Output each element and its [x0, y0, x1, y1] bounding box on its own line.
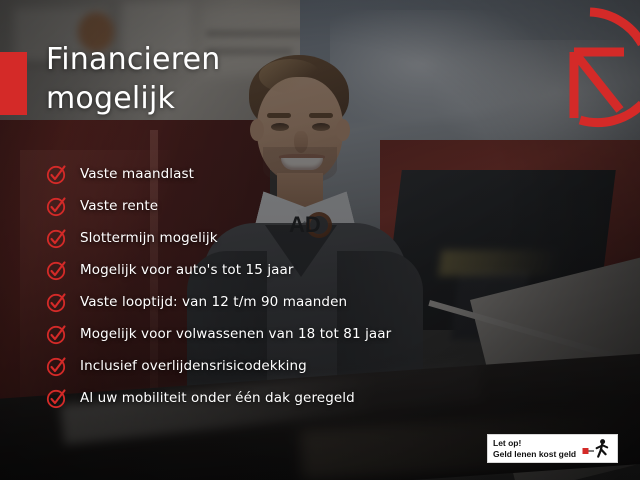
list-item: Vaste rente [46, 190, 606, 222]
walking-person-icon [582, 438, 612, 460]
circled-check-icon [46, 387, 68, 409]
circled-check-icon [46, 163, 68, 185]
circled-check-icon [46, 291, 68, 313]
list-item: Vaste looptijd: van 12 t/m 90 maanden [46, 286, 606, 318]
list-item: Mogelijk voor volwassenen van 18 tot 81 … [46, 318, 606, 350]
red-circular-arrow-icon [550, 0, 640, 130]
list-item-label: Vaste looptijd: van 12 t/m 90 maanden [80, 294, 347, 310]
financing-promo-banner: AD Financieren mogelijk [0, 0, 640, 480]
circled-check-icon [46, 259, 68, 281]
list-item-label: Al uw mobiliteit onder één dak geregeld [80, 390, 355, 406]
list-item: Mogelijk voor auto's tot 15 jaar [46, 254, 606, 286]
status-badge: Let op! Geld lenen kost geld [487, 434, 618, 463]
list-item-label: Mogelijk voor auto's tot 15 jaar [80, 262, 294, 278]
list-item-label: Inclusief overlijdensrisicodekking [80, 358, 307, 374]
list-item: Inclusief overlijdensrisicodekking [46, 350, 606, 382]
list-item-label: Slottermijn mogelijk [80, 230, 218, 246]
title-line-2: mogelijk [46, 79, 376, 118]
red-rectangle-block [0, 52, 27, 115]
list-item: Al uw mobiliteit onder één dak geregeld [46, 382, 606, 414]
title-line-1: Financieren [46, 40, 376, 79]
circled-check-icon [46, 227, 68, 249]
warning-line-2: Geld lenen kost geld [493, 449, 582, 460]
circled-check-icon [46, 323, 68, 345]
circled-check-icon [46, 355, 68, 377]
list-item: Vaste maandlast [46, 158, 606, 190]
page-title: Financieren mogelijk [46, 40, 376, 118]
warning-line-1: Let op! [493, 438, 582, 449]
circled-check-icon [46, 195, 68, 217]
warning-text: Let op! Geld lenen kost geld [493, 438, 582, 459]
list-item-label: Mogelijk voor volwassenen van 18 tot 81 … [80, 326, 391, 342]
feature-list: Vaste maandlast Vaste rente Slottermijn … [46, 158, 606, 414]
list-item: Slottermijn mogelijk [46, 222, 606, 254]
list-item-label: Vaste maandlast [80, 166, 194, 182]
list-item-label: Vaste rente [80, 198, 158, 214]
